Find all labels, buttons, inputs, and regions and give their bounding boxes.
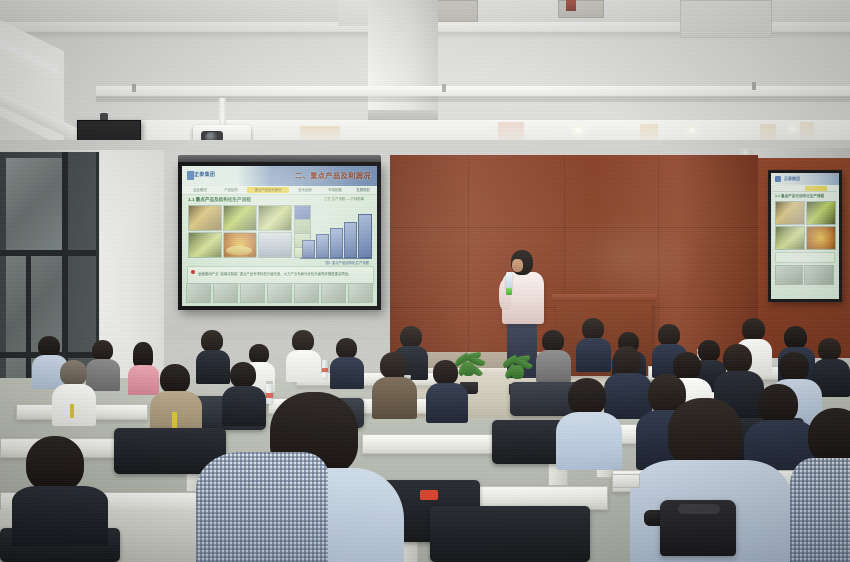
attendee-body [12,486,108,546]
attendee-body [196,350,230,384]
projection-screen-surface: 正泰集团 二、重点产品及利润况 企业概况 产品结构 重点产品及利润况 技术创新 … [182,166,377,306]
ceiling-vent-2 [558,0,604,18]
attendee-head [433,360,458,385]
lanyard [172,412,177,428]
attendee-body [52,384,96,426]
attendee-head [582,318,604,340]
ceiling-soffit-block [368,0,438,120]
secondary-display-surface: 正泰集团 1.1 重点产品及结构化生产流程 [771,173,839,299]
attendee-head [808,408,850,464]
attendee-head [658,324,680,346]
attendee-head [668,398,742,468]
microphone-indicator-icon [506,288,512,295]
phone-on-desk [612,474,640,488]
bottle-cap [266,381,273,384]
door-mullion-h1 [0,250,96,256]
attendee-head [818,338,841,361]
attendee-head [92,340,113,361]
attendee-head [400,326,422,348]
attendee-body [196,452,328,562]
recessed-light-2 [690,128,695,133]
ceiling-vent-marker-2 [566,0,576,11]
plant-leaf [511,365,524,379]
podium-top [552,294,656,302]
attendee-body [372,377,417,419]
secondary-display[interactable]: 正泰集团 1.1 重点产品及结构化生产流程 [768,170,842,302]
attendee-body [576,338,611,372]
attendee-body [790,458,850,562]
bag-handle-icon [678,504,720,514]
recessed-light-3 [790,126,795,131]
mini-screen-glow [771,173,839,299]
recessed-light-1 [576,128,581,133]
attendee-body [222,386,266,426]
attendee-head [568,378,606,416]
bottle-cap [322,357,328,360]
projection-screen[interactable]: 正泰集团 二、重点产品及利润况 企业概况 产品结构 重点产品及利润况 技术创新 … [178,162,381,310]
attendee-head [698,340,720,362]
attendee-head [723,344,752,374]
ceiling-panel-right [680,0,772,38]
ceiling-mount-2 [442,84,446,92]
attendee-body [128,365,159,395]
attendee-head [336,338,357,359]
ceiling-beam-2-shadow [96,96,850,102]
attendee-head [201,330,223,352]
bottle-label [322,368,328,372]
ceiling-beam-2 [96,86,850,96]
ceiling-stain-5 [800,122,814,142]
screen-light-glow [182,166,377,306]
lanyard [70,404,74,418]
ceiling-mount-3 [752,82,756,90]
attendee-head [249,344,269,364]
attendee-body [330,357,364,389]
ceiling-soffit-base [368,110,438,120]
attendee-body [286,350,321,382]
plant-leaf [462,362,475,376]
attendee-head [542,330,564,352]
attendee-body [86,359,120,391]
attendee-body [604,373,652,419]
attendee-head [230,362,256,388]
attendee-head [380,352,407,379]
attendee-head [38,336,60,357]
ceiling-mount-1 [132,84,136,92]
door-glass-pane-top [6,158,64,250]
presenter-face [512,259,523,272]
attendee-body [426,383,468,423]
attendee-head [779,352,809,382]
attendee-head [613,346,641,376]
bottle-label [266,393,273,398]
conference-room-photo: 正泰集团 二、重点产品及利润况 企业概况 产品结构 重点产品及利润况 技术创新 … [0,0,850,562]
attendee-head [758,384,798,424]
chair-back-foreground [430,506,590,562]
attendee-head [26,436,84,492]
attendee-head [292,330,314,352]
desk-object-red [420,490,438,500]
attendee-body [556,412,622,470]
attendee-head [160,364,190,394]
attendee-body [536,350,571,382]
attendee-head [784,326,807,349]
wood-highlight [550,215,700,305]
attendee-head [742,318,765,341]
wood-seam-v1 [468,155,469,385]
attendee-head [60,360,87,386]
